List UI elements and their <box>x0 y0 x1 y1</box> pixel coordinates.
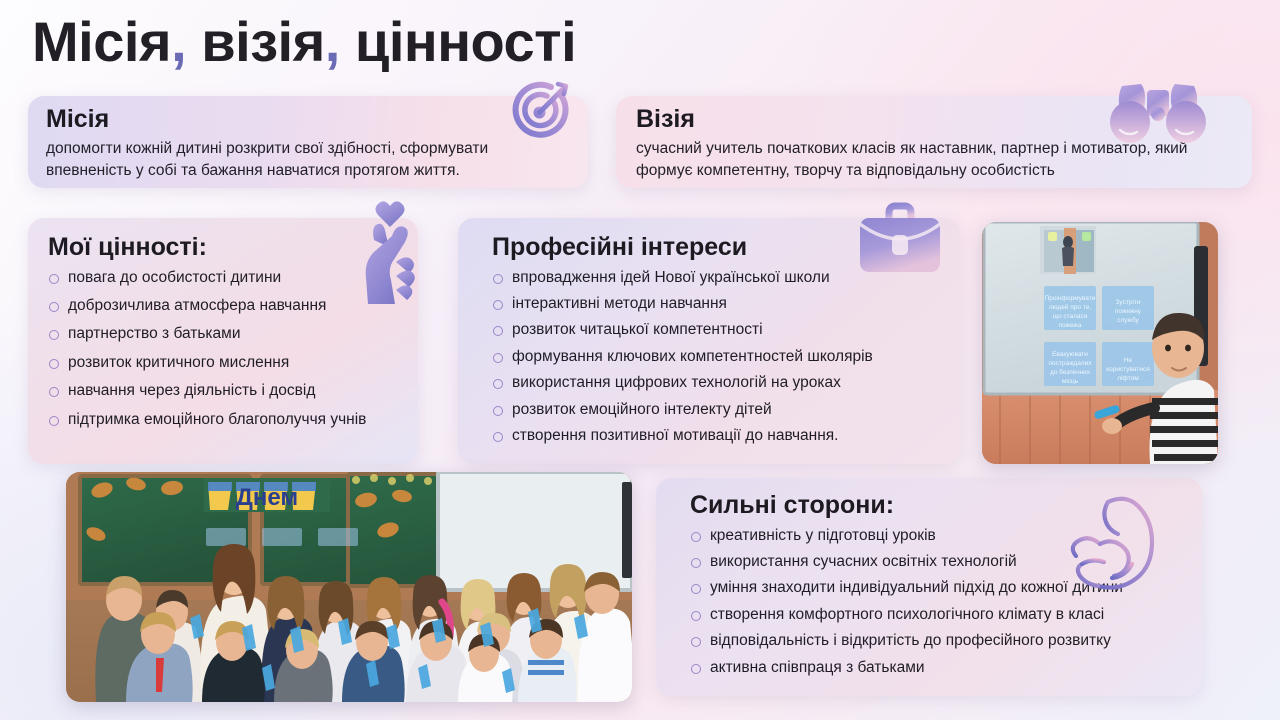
svg-text:Днем: Днем <box>236 484 298 511</box>
list-item: доброзичлива атмосфера навчання <box>48 296 400 316</box>
svg-text:Не: Не <box>1124 357 1133 364</box>
list-item: розвиток критичного мислення <box>48 353 400 373</box>
interests-list: впровадження ідей Нової української школ… <box>492 268 942 447</box>
finger-heart-hand-icon <box>362 196 440 308</box>
svg-text:постраждалих: постраждалих <box>1048 360 1092 367</box>
svg-text:пожежну: пожежну <box>1115 308 1142 315</box>
mission-heading: Місія <box>46 106 570 134</box>
svg-text:Евакуювати: Евакуювати <box>1052 351 1088 358</box>
list-item: створення комфортного психологічного клі… <box>690 605 1184 625</box>
list-item: інтерактивні методи навчання <box>492 294 942 314</box>
list-item: розвиток емоційного інтелекту дітей <box>492 400 942 420</box>
svg-text:що сталася: що сталася <box>1053 313 1088 320</box>
svg-text:користуватися: користуватися <box>1106 366 1150 373</box>
svg-text:місць: місць <box>1062 377 1079 385</box>
briefcase-icon <box>858 202 942 276</box>
svg-text:до безпечних: до безпечних <box>1050 368 1091 376</box>
svg-text:Проінформувати: Проінформувати <box>1045 294 1096 302</box>
photo-class-group: Днем <box>66 472 632 702</box>
page-title: Місія, візія, цінності <box>32 8 576 75</box>
list-item: повага до особистості дитини <box>48 268 400 288</box>
flexed-bicep-icon <box>1062 492 1178 600</box>
values-list: повага до особистості дитини доброзичлив… <box>48 268 400 431</box>
title-part-values: цінності <box>355 10 576 73</box>
list-item: активна співпраця з батьками <box>690 658 1184 678</box>
photo-boy-at-whiteboard: Проінформуватилюдей про те, що сталасяпо… <box>982 222 1218 464</box>
title-part-vision: візія <box>201 10 325 73</box>
list-item: партнерство з батьками <box>48 324 400 344</box>
mission-body: допомогти кожній дитині розкрити свої зд… <box>46 138 570 183</box>
values-heading: Мої цінності: <box>48 234 400 262</box>
svg-text:службу: службу <box>1117 316 1139 324</box>
svg-text:Зустріти: Зустріти <box>1116 298 1141 306</box>
title-part-mission: Місія <box>32 10 171 73</box>
svg-text:ліфтом: ліфтом <box>1117 374 1139 382</box>
values-card: Мої цінності: повага до особистості дити… <box>28 218 418 464</box>
title-comma-2: , <box>325 10 355 73</box>
title-comma-1: , <box>171 10 201 73</box>
target-icon <box>508 78 574 144</box>
list-item: використання цифрових технологій на урок… <box>492 373 942 393</box>
list-item: створення позитивної мотивації до навчан… <box>492 426 942 446</box>
svg-text:пожежа: пожежа <box>1059 322 1082 329</box>
list-item: формування ключових компетентностей школ… <box>492 347 942 367</box>
list-item: відповідальність і відкритість до профес… <box>690 631 1184 651</box>
svg-text:людей про те,: людей про те, <box>1049 303 1091 311</box>
list-item: розвиток читацької компетентності <box>492 320 942 340</box>
binoculars-icon <box>1102 70 1214 148</box>
list-item: підтримка емоційного благополуччя учнів <box>48 410 400 430</box>
mission-card: Місія допомогти кожній дитині розкрити с… <box>28 96 588 188</box>
slide-root: Місія, візія, цінності Місія допомогти к… <box>0 0 1280 720</box>
list-item: навчання через діяльність і досвід <box>48 381 400 401</box>
